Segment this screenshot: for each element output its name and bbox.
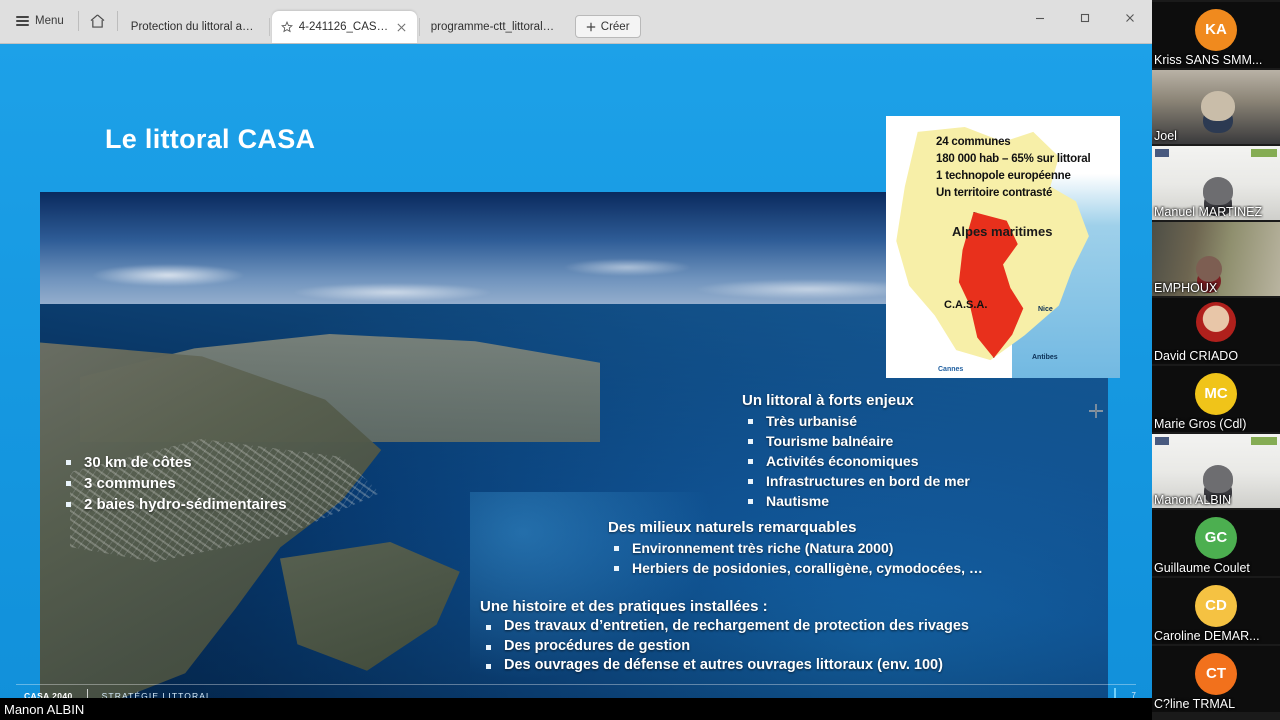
list-item: Des ouvrages de défense et autres ouvrag… xyxy=(480,656,969,676)
create-label: Créer xyxy=(601,21,630,33)
participant-name: Manuel MARTINEZ xyxy=(1152,205,1264,219)
divider xyxy=(419,18,420,36)
enjeux-heading: Un littoral à forts enjeux xyxy=(742,392,970,409)
divider xyxy=(117,11,118,31)
presentation-slide: Le littoral CASA 24 communes 180 000 hab xyxy=(0,44,1152,720)
map-city-antibes: Antibes xyxy=(1032,354,1058,361)
home-icon xyxy=(90,14,105,28)
participant-rail[interactable]: KA Kriss SANS SMM... Joel Manuel MARTINE… xyxy=(1152,0,1280,720)
hamburger-icon xyxy=(16,16,29,26)
map-region-label: Alpes maritimes xyxy=(952,224,1052,239)
list-item: Infrastructures en bord de mer xyxy=(742,471,970,491)
participant-tile-joel[interactable]: Joel xyxy=(1152,70,1280,144)
map-stat-2: 1 technopole européenne xyxy=(936,168,1116,185)
tab-2[interactable]: programme-ctt_littoral_faca... xyxy=(422,11,567,43)
tab-0[interactable]: Protection du littoral audois xyxy=(122,11,267,43)
participant-tile-manon-albin[interactable]: Manon ALBIN xyxy=(1152,434,1280,508)
logo-icon xyxy=(1155,149,1169,157)
close-button[interactable] xyxy=(1107,0,1152,36)
maximize-icon xyxy=(1079,12,1091,24)
participant-tile-kriss[interactable]: KA Kriss SANS SMM... xyxy=(1152,2,1280,68)
list-item: Des travaux d’entretien, de rechargement… xyxy=(480,617,969,637)
active-speaker-name: Manon ALBIN xyxy=(0,702,84,717)
logo-icon xyxy=(1251,437,1277,445)
slide-stage[interactable]: Le littoral CASA 24 communes 180 000 hab xyxy=(0,44,1152,720)
milieux-list: Environnement très riche (Natura 2000) H… xyxy=(608,538,983,578)
list-item: 30 km de côtes xyxy=(60,452,287,473)
maximize-button[interactable] xyxy=(1062,0,1107,36)
close-icon xyxy=(1124,12,1136,24)
participant-tile-guillaume-coulet[interactable]: GC Guillaume Coulet xyxy=(1152,510,1280,576)
list-item: Des procédures de gestion xyxy=(480,637,969,657)
participant-name: Joel xyxy=(1152,129,1179,143)
participant-name: EMPHOUX xyxy=(1152,281,1219,295)
active-speaker-bar: Manon ALBIN xyxy=(0,698,1152,720)
tab-strip: Menu Protection du littoral audois xyxy=(0,0,1152,44)
participant-tile-emphoux[interactable]: EMPHOUX xyxy=(1152,222,1280,296)
participant-name: Kriss SANS SMM... xyxy=(1152,53,1264,67)
participant-tile-manuel-martinez[interactable]: Manuel MARTINEZ xyxy=(1152,146,1280,220)
map-casa-label: C.A.S.A. xyxy=(944,299,987,311)
plus-icon xyxy=(586,22,596,32)
map-city-cannes: Cannes xyxy=(938,366,963,373)
participant-name: C?line TRMAL xyxy=(1152,697,1237,711)
tab-label: programme-ctt_littoral_faca... xyxy=(431,21,558,33)
map-stat-0: 24 communes xyxy=(936,134,1116,151)
screen: Menu Protection du littoral audois xyxy=(0,0,1280,720)
inset-map: 24 communes 180 000 hab – 65% sur littor… xyxy=(886,116,1120,378)
participant-name: Guillaume Coulet xyxy=(1152,561,1252,575)
left-bullets-block: 30 km de côtes 3 communes 2 baies hydro-… xyxy=(60,452,287,515)
participant-tile-marie-gros[interactable]: MC Marie Gros (Cdl) xyxy=(1152,366,1280,432)
tab-label: Protection du littoral audois xyxy=(131,21,258,33)
logo-icon xyxy=(1155,437,1169,445)
map-statistics: 24 communes 180 000 hab – 65% sur littor… xyxy=(936,134,1116,202)
enjeux-block: Un littoral à forts enjeux Très urbanisé… xyxy=(742,392,970,511)
milieux-heading: Des milieux naturels remarquables xyxy=(608,519,983,536)
avatar: CD xyxy=(1195,585,1237,627)
list-item: Herbiers de posidonies, coralligène, cym… xyxy=(608,558,983,578)
star-icon[interactable] xyxy=(281,21,293,33)
tab-label: 4-241126_CASA_C... xyxy=(299,21,389,33)
list-item: Tourisme balnéaire xyxy=(742,431,970,451)
list-item: Environnement très riche (Natura 2000) xyxy=(608,538,983,558)
list-item: Très urbanisé xyxy=(742,411,970,431)
participant-name: Marie Gros (Cdl) xyxy=(1152,417,1248,431)
map-stat-3: Un territoire contrasté xyxy=(936,185,1116,202)
minimize-icon xyxy=(1034,12,1046,24)
participant-tile-caroline-demar[interactable]: CD Caroline DEMAR... xyxy=(1152,578,1280,644)
browser-window: Menu Protection du littoral audois xyxy=(0,0,1152,720)
participant-tile-celine-trmal[interactable]: CT C?line TRMAL xyxy=(1152,646,1280,712)
minimize-button[interactable] xyxy=(1017,0,1062,36)
histoire-block: Une histoire et des pratiques installées… xyxy=(480,598,969,676)
avatar: KA xyxy=(1195,9,1237,51)
participant-name: David CRIADO xyxy=(1152,349,1240,363)
menu-label: Menu xyxy=(35,15,64,27)
milieux-block: Des milieux naturels remarquables Enviro… xyxy=(608,519,983,578)
tab-close-icon[interactable] xyxy=(395,21,408,34)
create-button[interactable]: Créer xyxy=(575,15,641,38)
map-city-nice: Nice xyxy=(1038,306,1053,313)
participant-name: Caroline DEMAR... xyxy=(1152,629,1262,643)
tab-1[interactable]: 4-241126_CASA_C... xyxy=(272,11,417,43)
window-controls xyxy=(1017,0,1152,36)
avatar: CT xyxy=(1195,653,1237,695)
histoire-list: Des travaux d’entretien, de rechargement… xyxy=(480,617,969,676)
left-bullet-list: 30 km de côtes 3 communes 2 baies hydro-… xyxy=(60,452,287,515)
list-item: 2 baies hydro-sédimentaires xyxy=(60,494,287,515)
resize-cursor-icon xyxy=(1088,403,1104,419)
map-stat-1: 180 000 hab – 65% sur littoral xyxy=(936,151,1116,168)
slide-title: Le littoral CASA xyxy=(105,124,315,155)
logo-icon xyxy=(1251,149,1277,157)
histoire-heading: Une histoire et des pratiques installées… xyxy=(480,598,969,615)
enjeux-list: Très urbanisé Tourisme balnéaire Activit… xyxy=(742,411,970,511)
avatar: GC xyxy=(1195,517,1237,559)
participant-tile-david-criado[interactable]: David CRIADO xyxy=(1152,298,1280,364)
divider xyxy=(78,11,79,31)
divider xyxy=(269,18,270,36)
participant-name: Manon ALBIN xyxy=(1152,493,1233,507)
menu-button[interactable]: Menu xyxy=(6,7,74,35)
list-item: Nautisme xyxy=(742,491,970,511)
list-item: Activités économiques xyxy=(742,451,970,471)
home-button[interactable] xyxy=(83,7,113,35)
list-item: 3 communes xyxy=(60,473,287,494)
avatar: MC xyxy=(1195,373,1237,415)
